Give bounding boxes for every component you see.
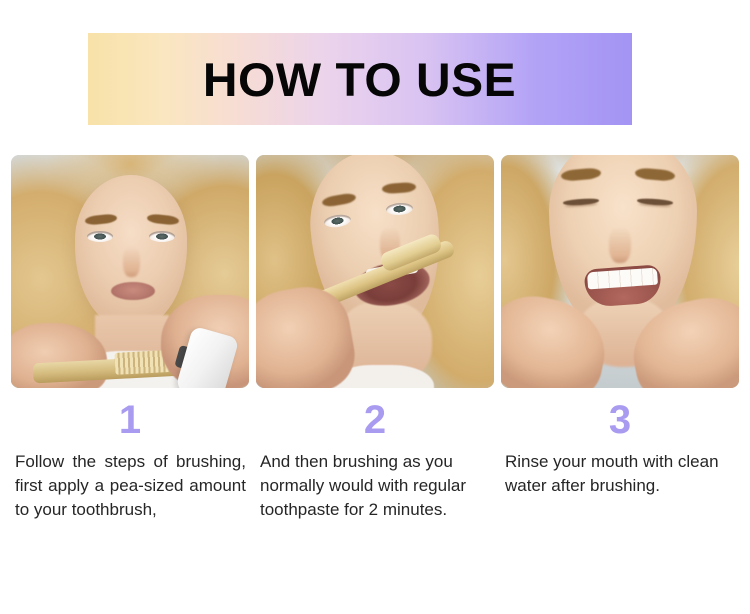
step-3-caption: Rinse your mouth with clean water after …: [501, 450, 739, 498]
teeth-shape: [587, 268, 658, 290]
step-2-caption: And then brushing as you normally would …: [256, 450, 494, 522]
step-2-photo: [256, 155, 494, 388]
step-1-caption: Follow the steps of brushing, first appl…: [11, 450, 249, 522]
eye-right-shape: [149, 231, 175, 242]
page-title: HOW TO USE: [203, 56, 516, 103]
step-2-photo-content: [256, 155, 494, 388]
nose-shape: [609, 227, 631, 263]
step-3-number: 3: [501, 400, 739, 442]
step-3-photo-content: [501, 155, 739, 388]
step-2-number: 2: [256, 400, 494, 442]
eye-left-shape: [87, 231, 113, 242]
step-1-photo-content: [11, 155, 249, 388]
step-2: 2 And then brushing as you normally woul…: [256, 155, 494, 522]
step-1-photo: [11, 155, 249, 388]
step-1-number: 1: [11, 400, 249, 442]
mouth-shape: [111, 282, 155, 300]
step-3: 3 Rinse your mouth with clean water afte…: [501, 155, 739, 522]
steps-row: 1 Follow the steps of brushing, first ap…: [11, 155, 739, 522]
step-3-photo: [501, 155, 739, 388]
step-1: 1 Follow the steps of brushing, first ap…: [11, 155, 249, 522]
how-to-use-banner: HOW TO USE: [88, 33, 632, 125]
nose-shape: [123, 247, 140, 277]
